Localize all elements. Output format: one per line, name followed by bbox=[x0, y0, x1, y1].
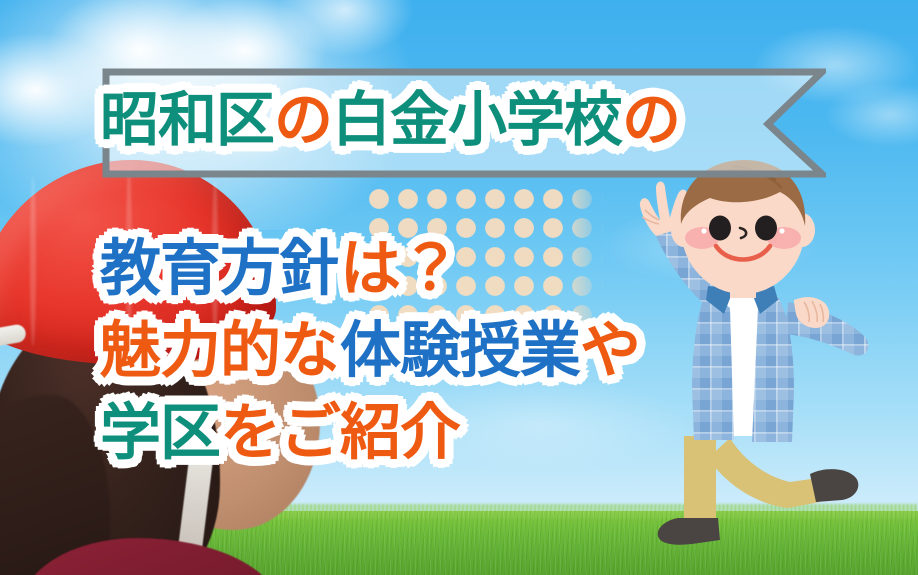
eyecatch-image: 昭和区 昭和区の白金小学校の 教育方針は？ 魅力的な体験授業や 学区をご紹介 bbox=[0, 0, 918, 575]
headline-3-seg-1: 魅力的な bbox=[100, 315, 340, 386]
boy-lowered-arm bbox=[784, 297, 868, 355]
headline-3-seg-2: 体験授業 bbox=[340, 315, 580, 386]
boy-shoe-left bbox=[658, 518, 720, 545]
boy-shirt-left-panel bbox=[692, 290, 734, 440]
headline-1-seg-4: の bbox=[622, 85, 680, 154]
headline-2-seg-1: 教育方針 bbox=[100, 233, 340, 304]
headline-3-seg-3: や bbox=[580, 315, 640, 386]
boy-eye-left bbox=[709, 216, 731, 241]
headline-2-seg-2: は？ bbox=[340, 233, 460, 304]
headline-1-seg-3: 白金小学校 bbox=[332, 85, 622, 154]
boy-shoe-right bbox=[810, 469, 858, 502]
boy-legs bbox=[684, 436, 820, 528]
headline-line-4: 学区をご紹介 bbox=[100, 402, 460, 463]
headline-4-seg-1: 学区 bbox=[100, 397, 220, 468]
headline-line-1: 昭和区の白金小学校の bbox=[100, 90, 680, 149]
headline-4-seg-2: をご紹介 bbox=[220, 397, 460, 468]
headline-line-2: 教育方針は？ bbox=[100, 238, 460, 299]
boy-illustration bbox=[612, 158, 882, 548]
boy-eye-right bbox=[755, 216, 777, 241]
headline-1-seg-1: 昭和区 bbox=[100, 85, 274, 154]
headline-1-seg-2: の bbox=[274, 85, 332, 154]
headline-line-3: 魅力的な体験授業や bbox=[100, 320, 640, 381]
